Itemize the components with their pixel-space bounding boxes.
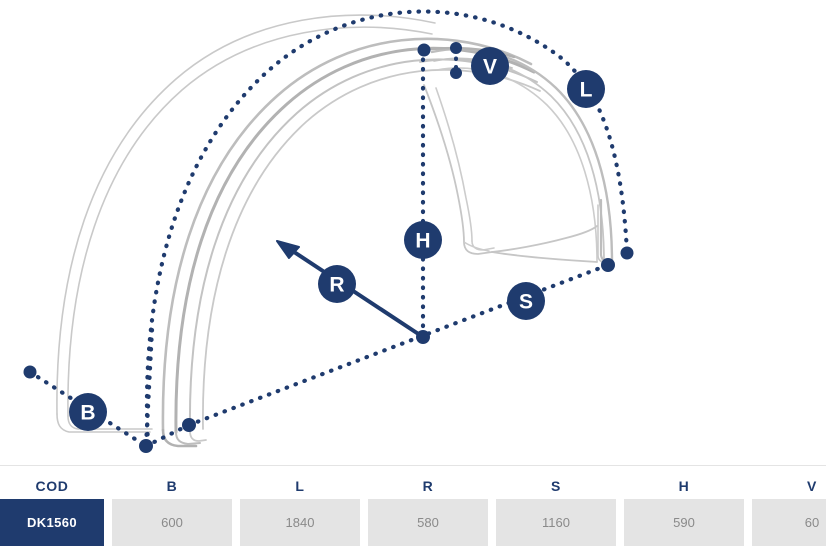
table-row: DK1560 600 1840 580 1160 590 60 (0, 499, 826, 546)
badge-label-b: B (80, 402, 95, 425)
mudguard-drawing-area: V L H R S B (0, 0, 826, 465)
dot-apex-right (450, 42, 462, 54)
mudguard-perspective-line-1 (492, 252, 597, 262)
mudguard-shell-arc-3 (190, 59, 537, 431)
cell-gap (744, 499, 752, 546)
dot-rear-bottom (601, 258, 615, 272)
dimension-badge-v[interactable]: V (471, 47, 509, 85)
table-header-h: H (624, 474, 744, 499)
dimension-line-l (147, 12, 627, 444)
cell-gap (616, 499, 624, 546)
table-header-l: L (240, 474, 360, 499)
table-header-cod: COD (0, 474, 104, 499)
mudguard-shell-hem-inner (190, 431, 206, 441)
mudguard-drawing-svg: V L H R S B (0, 0, 826, 465)
mudguard-section-face-right (492, 226, 597, 252)
mudguard-section-face-left2 (436, 88, 472, 241)
dimension-badge-r[interactable]: R (318, 265, 356, 303)
badge-label-l: L (580, 79, 593, 102)
cell-gap (104, 499, 112, 546)
dimension-badge-l[interactable]: L (567, 70, 605, 108)
dot-front-bottom (182, 418, 196, 432)
table-cell-r: 580 (368, 499, 488, 546)
dimension-badge-h[interactable]: H (404, 221, 442, 259)
dot-b-left (24, 366, 37, 379)
mudguard-shell-hem-mid (176, 432, 200, 444)
dimension-badge-s[interactable]: S (507, 282, 545, 320)
badge-label-h: H (415, 230, 430, 253)
cell-gap (360, 499, 368, 546)
table-header-s: S (496, 474, 616, 499)
dimension-lines (30, 12, 627, 446)
cell-gap (232, 499, 240, 546)
table-header-row: COD B L R S H V (0, 466, 826, 499)
table-cell-h: 590 (624, 499, 744, 546)
dot-b-right (139, 439, 153, 453)
dot-center-vertex (416, 330, 430, 344)
badge-label-s: S (519, 291, 533, 314)
technical-drawing-page: V L H R S B (0, 0, 826, 556)
dimension-line-s (189, 265, 608, 425)
dot-apex-left (418, 44, 431, 57)
table-header-v: V (752, 474, 826, 499)
table-header-b: B (112, 474, 232, 499)
dimension-badge-b[interactable]: B (69, 393, 107, 431)
mudguard-body-outlines (57, 15, 612, 446)
table-cell-l: 1840 (240, 499, 360, 546)
cell-gap (488, 499, 496, 546)
table-header-r: R (368, 474, 488, 499)
mudguard-outer-front-arc (57, 15, 435, 414)
table-cell-v: 60 (752, 499, 826, 546)
dot-v-lower (450, 67, 462, 79)
table-cell-s: 1160 (496, 499, 616, 546)
table-cell-code: DK1560 (0, 499, 104, 546)
dot-l-end (621, 247, 634, 260)
badge-label-v: V (483, 56, 497, 79)
specification-table: COD B L R S H V DK1560 600 1840 580 1160 (0, 465, 826, 556)
mudguard-section-u-bottom2 (472, 241, 494, 250)
table-cell-b: 600 (112, 499, 232, 546)
badge-label-r: R (329, 274, 344, 297)
mudguard-outer-front-arc-inner (68, 27, 432, 416)
